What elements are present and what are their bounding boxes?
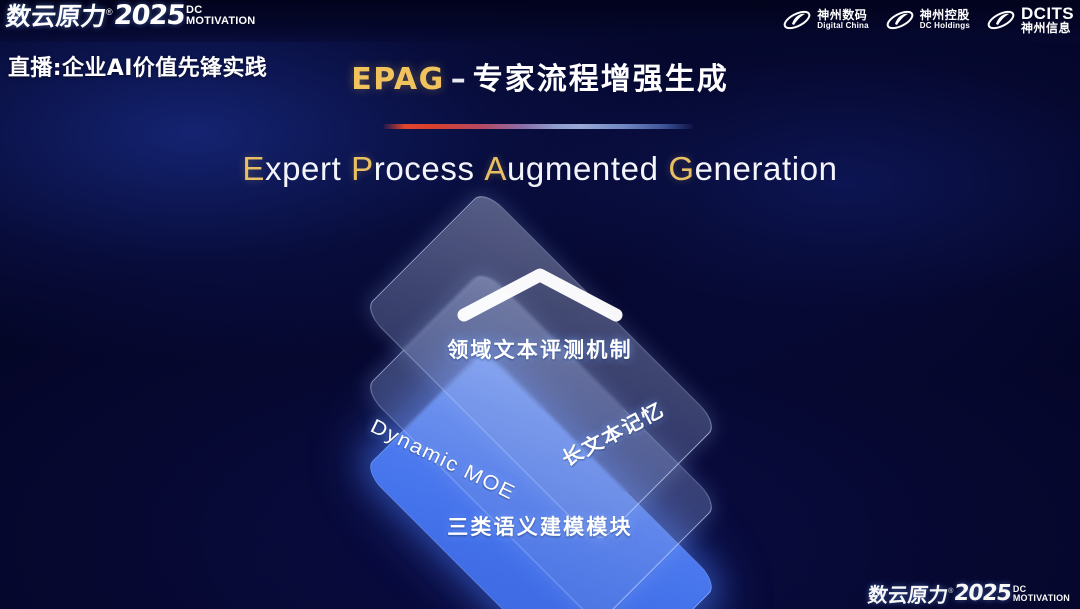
subtitle-rest-process: rocess bbox=[374, 150, 475, 187]
subtitle-rest-augmented: ugmented bbox=[507, 150, 659, 187]
page-title-dash: – bbox=[451, 62, 467, 97]
brand-registered-mark: ® bbox=[106, 7, 113, 17]
subtitle-rest-expert: xpert bbox=[265, 150, 341, 187]
swirl-icon bbox=[782, 7, 812, 33]
swirl-icon bbox=[986, 7, 1016, 33]
slide-canvas: 数云原力 ® 2025 DC MOTIVATION 直播:企业AI价值先锋实践 … bbox=[0, 0, 1080, 609]
diagram-label-bottom: 三类语义建模模块 bbox=[0, 511, 1080, 541]
footer-brand-logo: 数云原力 ® 2025 DC MOTIVATION bbox=[868, 583, 1070, 605]
brand-logo-dc-motivation: DC MOTIVATION bbox=[186, 5, 255, 29]
partner-label: 神州数码 Digital China bbox=[817, 9, 869, 30]
subtitle-cap-g: G bbox=[668, 150, 694, 187]
diagram-label-top: 领域文本评测机制 bbox=[0, 334, 1080, 364]
title-divider bbox=[383, 124, 693, 129]
page-title-acronym: EPAG bbox=[351, 62, 445, 97]
subtitle-rest-generation: eneration bbox=[695, 150, 838, 187]
partner-logo-dcits: DCITS 神州信息 bbox=[986, 5, 1074, 35]
partner-name-en: Digital China bbox=[817, 22, 869, 30]
partner-logo-row: 神州数码 Digital China 神州控股 DC Holdings DCIT… bbox=[782, 5, 1074, 35]
brand-logo-year: 2025 bbox=[112, 2, 186, 29]
partner-name-en: DCITS bbox=[1021, 5, 1074, 22]
partner-name-cn: 神州控股 bbox=[920, 9, 970, 22]
partner-label: DCITS 神州信息 bbox=[1021, 5, 1074, 35]
partner-name-cn: 神州数码 bbox=[817, 9, 869, 22]
subtitle-cap-e: E bbox=[242, 150, 265, 187]
swirl-icon bbox=[885, 7, 915, 33]
layered-architecture-diagram: 领域文本评测机制 Dynamic MOE 长文本记忆 三类语义建模模块 bbox=[0, 205, 1080, 585]
partner-logo-dc-holdings: 神州控股 DC Holdings bbox=[885, 7, 970, 33]
footer-brand-year: 2025 bbox=[953, 583, 1012, 605]
subtitle-cap-p: P bbox=[351, 150, 374, 187]
partner-name-cn: 神州信息 bbox=[1021, 22, 1074, 35]
subtitle-cap-a: A bbox=[484, 150, 507, 187]
chevron-up-icon bbox=[454, 263, 626, 325]
brand-logo-motivation: MOTIVATION bbox=[186, 16, 255, 27]
brand-logo-chinese: 数云原力 bbox=[4, 4, 107, 29]
footer-brand-chinese: 数云原力 bbox=[867, 585, 949, 605]
brand-logo: 数云原力 ® 2025 DC MOTIVATION bbox=[6, 2, 255, 29]
partner-label: 神州控股 DC Holdings bbox=[920, 9, 970, 30]
page-title-chinese: 专家流程增强生成 bbox=[473, 62, 729, 97]
partner-name-en: DC Holdings bbox=[920, 22, 970, 30]
live-stream-title: 直播:企业AI价值先锋实践 bbox=[8, 50, 267, 82]
page-subtitle: Expert Process Augmented Generation bbox=[0, 150, 1080, 188]
footer-brand-dc-motivation: DC MOTIVATION bbox=[1013, 585, 1070, 605]
partner-logo-digital-china: 神州数码 Digital China bbox=[782, 7, 869, 33]
footer-brand-motivation: MOTIVATION bbox=[1013, 594, 1070, 603]
footer-brand-registered-mark: ® bbox=[948, 588, 953, 595]
